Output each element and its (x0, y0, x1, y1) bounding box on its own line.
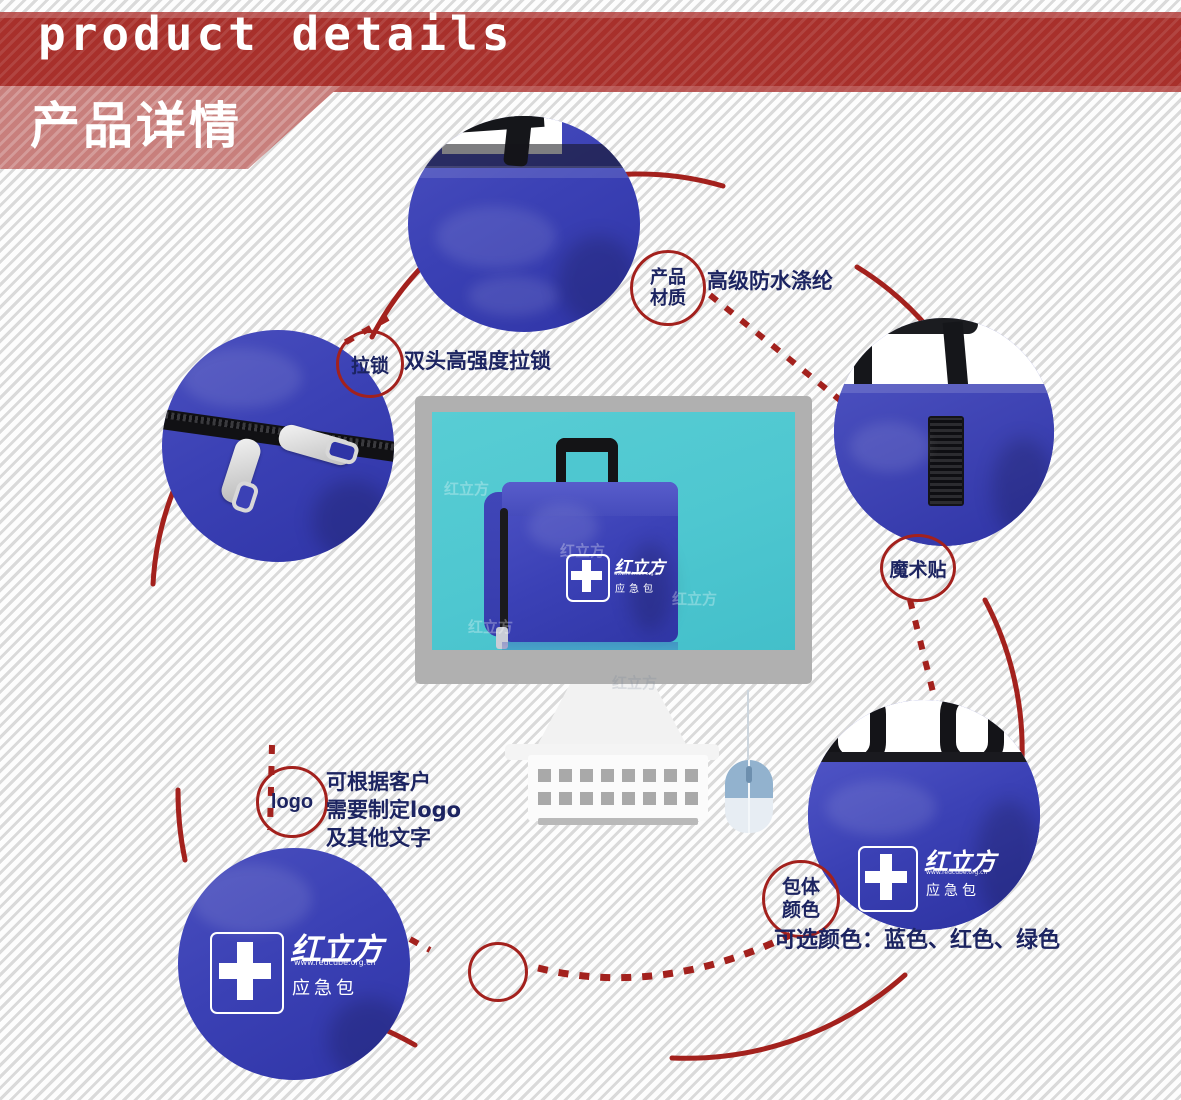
watermark-hero-4: 红立方 (560, 540, 605, 561)
keyboard-row-2 (538, 792, 698, 805)
monitor-frame: 红立方 www.redcube.org.cn 应急包 红立方 红立方 红立方 红… (415, 396, 812, 684)
watermark-page-1: 红立方 (612, 672, 657, 693)
decorative-empty-circle (468, 942, 528, 1002)
badge-zipper: 拉锁 (336, 330, 404, 398)
brand-url-fullbag: www.redcube.org.cn (926, 869, 987, 876)
desc-color: 可选颜色：蓝色、红色、绿色 (774, 922, 1060, 954)
watermark-hero-3: 红立方 (468, 616, 513, 637)
desc-material: 高级防水涤纶 (707, 265, 833, 295)
watermark-hero-1: 红立方 (444, 478, 489, 499)
logo-photo: 红立方 www.redcube.org.cn 应急包 (178, 848, 410, 1080)
keyboard (528, 755, 708, 821)
badge-velcro: 魔术贴 (880, 534, 956, 602)
mouse-cord (747, 690, 749, 762)
brand-sub-fullbag: 应急包 (926, 880, 980, 900)
desc-zipper: 双头高强度拉锁 (404, 345, 551, 375)
desc-logo-line2: 需要制定logo (326, 794, 461, 824)
watermark-hero-2: 红立方 (672, 588, 717, 609)
velcro-photo (834, 318, 1054, 546)
badge-logo: logo (256, 766, 328, 838)
brand-url-detail: www.redcube.org.cn (294, 958, 376, 967)
top-handle-photo (408, 116, 640, 332)
badge-color-line1: 包体 (782, 876, 820, 899)
badge-material-label: 产品材质 (649, 267, 687, 309)
product-details-page: product details 产品详情 (0, 0, 1181, 1100)
badge-color-line2: 颜色 (782, 899, 820, 922)
full-bag-photo: 红立方 www.redcube.org.cn 应急包 (808, 700, 1040, 930)
desc-logo-line1: 可根据客户 (326, 766, 431, 796)
brand-url-hero: www.redcube.org.cn (614, 572, 660, 577)
badge-material: 产品材质 (630, 250, 706, 326)
brand-sub-detail: 应急包 (292, 974, 358, 1000)
keyboard-foot (538, 818, 698, 825)
desc-logo-line3: 及其他文字 (326, 822, 431, 852)
keyboard-row-1 (538, 769, 698, 782)
brand-sub-hero: 应急包 (615, 580, 657, 595)
mouse (725, 760, 773, 833)
hero-photo: 红立方 www.redcube.org.cn 应急包 红立方 红立方 红立方 红… (432, 412, 795, 650)
